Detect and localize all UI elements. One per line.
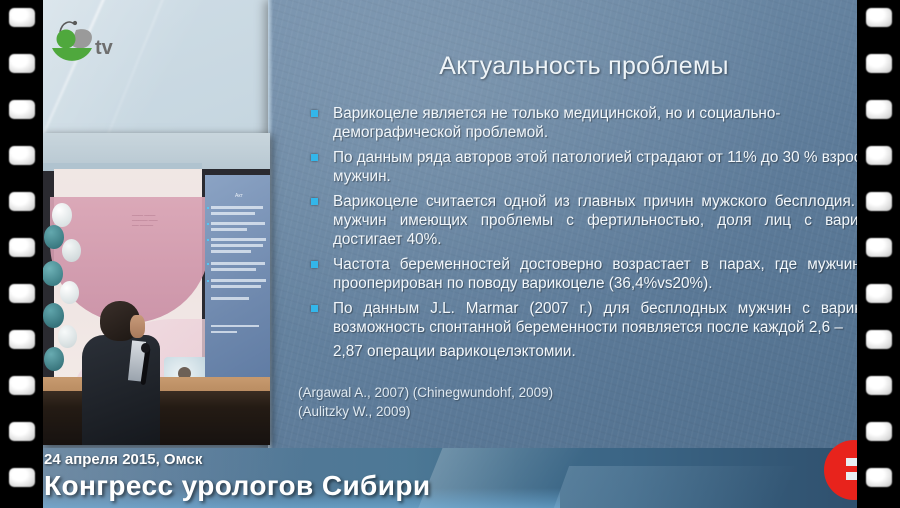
inset-microphone-head: [141, 343, 150, 353]
inset-screen-line: [211, 238, 266, 241]
bullet-text: По данным ряда авторов этой патологией с…: [333, 149, 889, 185]
balloon: [44, 225, 64, 249]
film-sprocket-hole: [9, 376, 35, 395]
inset-projection-screen: Акт: [205, 175, 270, 387]
logo-text: tv: [95, 37, 114, 59]
balloon: [42, 261, 63, 286]
film-sprocket-hole: [866, 238, 892, 257]
balloon: [44, 347, 64, 371]
bug-mascot-tv-logo: tv: [44, 18, 130, 72]
film-sprocket-hole: [866, 100, 892, 119]
inset-speaker-face: [130, 315, 145, 338]
inset-screen-line: [211, 297, 249, 300]
film-strip-left: [0, 0, 43, 508]
inset-screen-line: [211, 279, 266, 282]
inset-screen-line: [211, 262, 265, 265]
bullet-item: По данным ряда авторов этой патологией с…: [298, 148, 900, 187]
inset-screen-line: [211, 222, 265, 225]
inset-screen-title: Акт: [235, 193, 243, 199]
slide-citations: (Argawal A., 2007) (Chinegwundohf, 2009)…: [298, 383, 858, 421]
bullet-text: По данным J.L. Marmar (2007 г.) для бесп…: [333, 300, 900, 336]
film-strip-right: [857, 0, 900, 508]
inset-screen-bullet: [207, 239, 209, 241]
slide-title: Актуальность проблемы: [268, 52, 900, 81]
inset-screen-bullet: [207, 280, 209, 282]
film-sprocket-hole: [866, 330, 892, 349]
bullet-item: По данным J.L. Marmar (2007 г.) для бесп…: [298, 299, 900, 338]
inset-screen-citation: [211, 331, 237, 333]
bullet-marker-icon: [311, 198, 318, 205]
citation-line: (Argawal A., 2007) (Chinegwundohf, 2009): [298, 383, 858, 402]
slide-bullet-list: Варикоцеле является не только медицинско…: [298, 104, 900, 362]
balloon: [62, 239, 81, 262]
film-sprocket-hole: [866, 284, 892, 303]
inset-screen-line: [211, 228, 247, 231]
film-sprocket-hole: [9, 284, 35, 303]
speaker-camera-inset: _____ ____________ _______ ______ ______…: [42, 133, 270, 445]
bullet-item: Варикоцеле считается одной из главных пр…: [298, 192, 900, 250]
bullet-marker-icon: [311, 110, 318, 117]
banner-sheen-secondary: [551, 466, 869, 508]
video-player-frame: tv Актуальность проблемы Варикоцеле явля…: [0, 0, 900, 508]
film-sprocket-hole: [9, 100, 35, 119]
film-sprocket-hole: [9, 146, 35, 165]
bullet-item: Варикоцеле является не только медицинско…: [298, 104, 900, 143]
balloon: [43, 303, 64, 328]
citation-line: (Aulitzky W., 2009): [298, 402, 858, 421]
film-sprocket-hole: [9, 330, 35, 349]
film-sprocket-hole: [866, 468, 892, 487]
bullet-trailing-line: 2,87 операции варикоцелэктомии.: [298, 342, 900, 361]
film-sprocket-hole: [9, 8, 35, 27]
film-sprocket-hole: [9, 238, 35, 257]
film-sprocket-hole: [9, 422, 35, 441]
inset-screen-bullet: [207, 223, 209, 225]
bullet-marker-icon: [311, 261, 318, 268]
film-sprocket-hole: [9, 192, 35, 211]
inset-screen-line: [211, 250, 251, 253]
inset-screen-bullet: [207, 207, 209, 209]
inset-screen-citation: [211, 325, 259, 327]
bullet-text: Частота беременностей достоверно возраст…: [333, 256, 900, 292]
banner-title: Конгресс урологов Сибири: [44, 470, 430, 502]
film-sprocket-hole: [866, 8, 892, 27]
film-sprocket-hole: [866, 54, 892, 73]
bullet-marker-icon: [311, 154, 318, 161]
film-sprocket-hole: [866, 376, 892, 395]
inset-banner-text: _____ ____________ _______ ______: [132, 211, 192, 226]
bullet-text: Варикоцеле считается одной из главных пр…: [333, 193, 900, 249]
lower-third-banner: 24 апреля 2015, Омск Конгресс урологов С…: [0, 448, 900, 508]
film-sprocket-hole: [9, 54, 35, 73]
balloon: [60, 281, 79, 304]
film-sprocket-hole: [866, 192, 892, 211]
balloon: [58, 325, 77, 348]
bullet-text: Варикоцеле является не только медицинско…: [333, 105, 780, 141]
inset-screen-bullet: [207, 263, 209, 265]
film-sprocket-hole: [866, 422, 892, 441]
inset-screen-line: [211, 206, 263, 209]
inset-screen-line: [211, 244, 263, 247]
film-sprocket-hole: [9, 468, 35, 487]
inset-screen-line: [211, 212, 255, 215]
bullet-item: Частота беременностей достоверно возраст…: [298, 255, 900, 294]
presentation-slide: Актуальность проблемы Варикоцеле являетс…: [268, 0, 900, 448]
bullet-marker-icon: [311, 305, 318, 312]
inset-balloons: [42, 199, 84, 399]
banner-date: 24 апреля 2015, Омск: [44, 451, 202, 468]
inset-screen-line: [211, 285, 261, 288]
film-sprocket-hole: [866, 146, 892, 165]
balloon: [52, 203, 72, 227]
inset-screen-line: [211, 268, 256, 271]
